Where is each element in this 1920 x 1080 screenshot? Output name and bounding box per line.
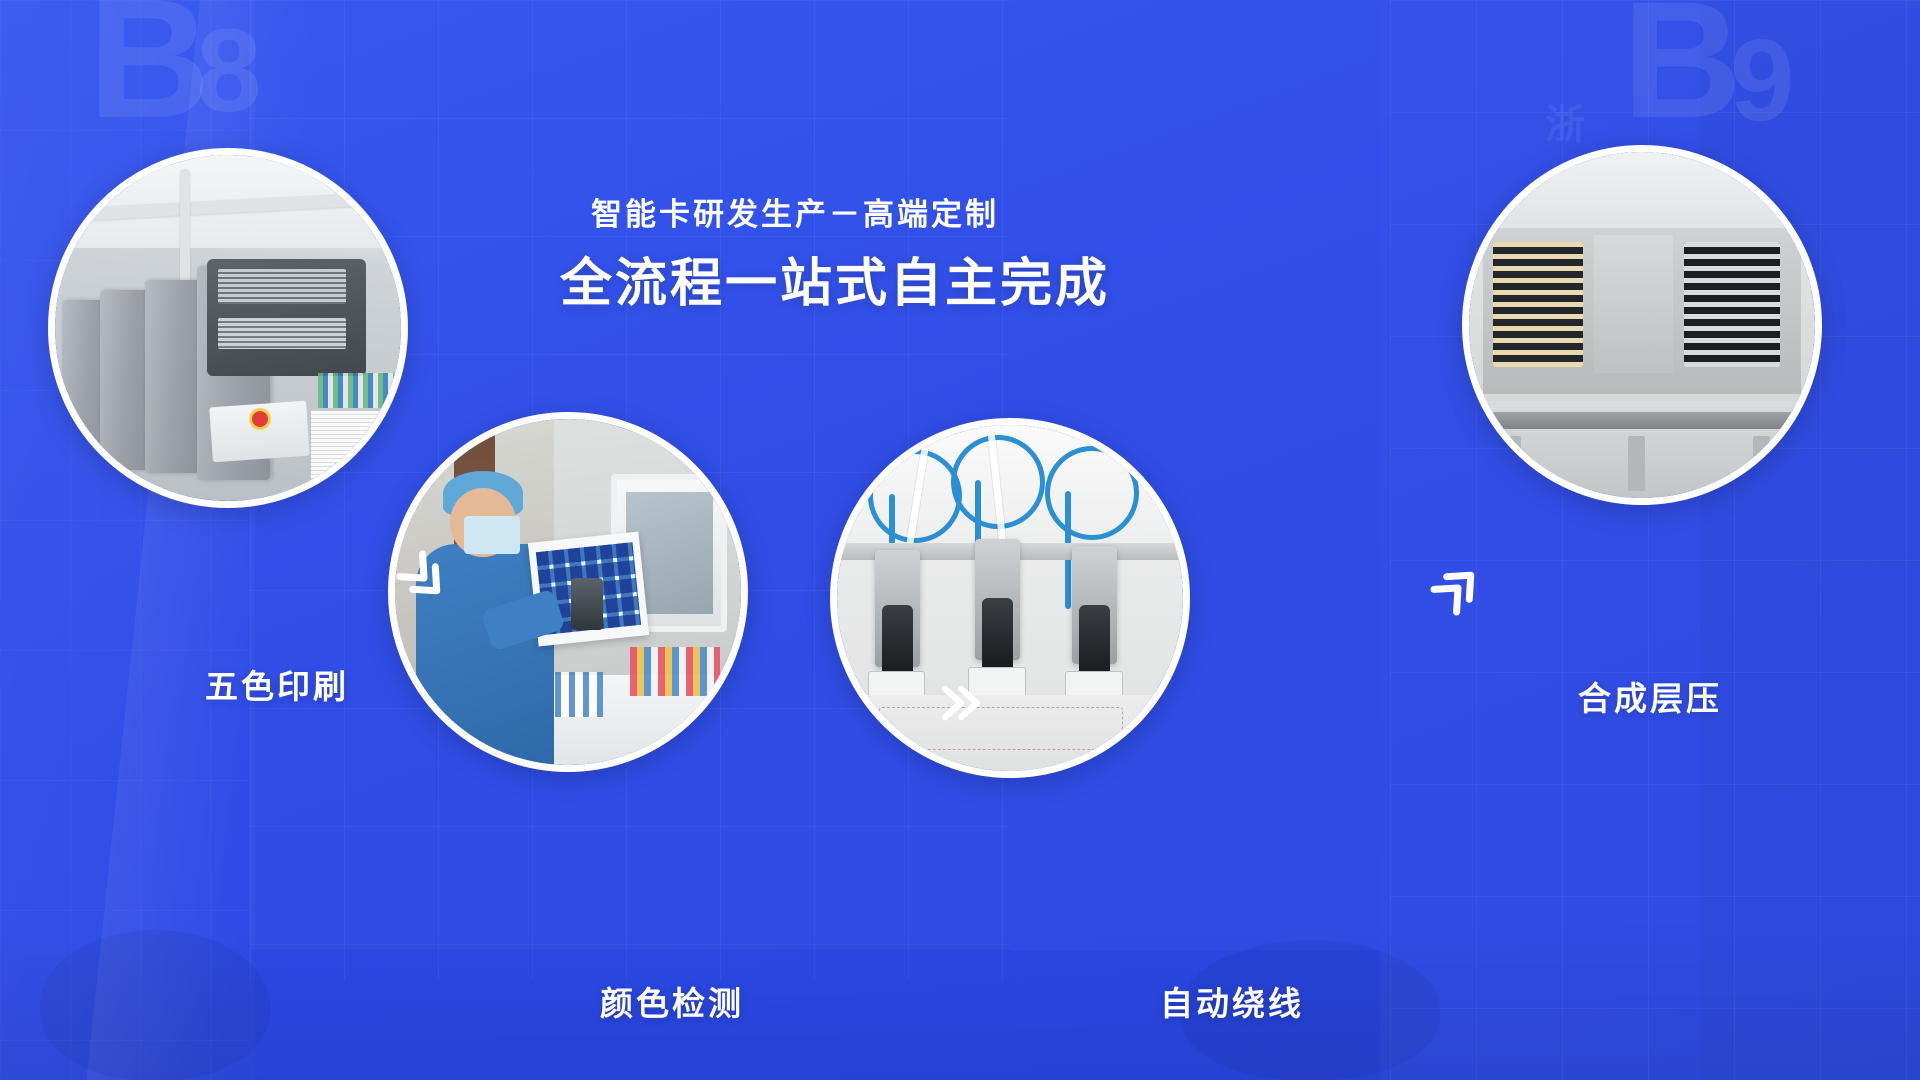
step-2-label: 颜色检测: [600, 977, 744, 1025]
watermark-left-number: 8: [196, 12, 258, 130]
background-tree-left: [40, 930, 270, 1080]
watermark-right-number: 9: [1730, 22, 1791, 138]
watermark-left-letter: B: [88, 0, 207, 144]
step-3-label: 自动绕线: [1160, 977, 1304, 1025]
step-1-circle[interactable]: [48, 148, 408, 508]
five-color-printing-press-photo: [55, 155, 401, 501]
step-1-label: 五色印刷: [205, 660, 349, 708]
arrow-2-chevron-right-icon: [938, 680, 984, 726]
banner-subtitle: 智能卡研发生产－高端定制: [560, 196, 1030, 233]
banner-title: 全流程一站式自主完成: [560, 253, 1030, 315]
step-3-circle[interactable]: [830, 418, 1190, 778]
background-ground: [0, 920, 1920, 1080]
headline-block: 智能卡研发生产－高端定制 全流程一站式自主完成: [560, 196, 1030, 316]
color-inspection-worker-photo: [395, 419, 741, 765]
automatic-coil-winding-machine-photo: [837, 425, 1183, 771]
lamination-press-photo: [1469, 152, 1815, 498]
watermark-right-small-text: 浙: [1545, 105, 1585, 145]
watermark-right-letter: B: [1622, 0, 1738, 144]
step-4-circle[interactable]: [1462, 145, 1822, 505]
step-4-label: 合成层压: [1578, 672, 1722, 720]
promo-banner: B 8 B 9 浙 智能卡研发生产－高端定制 全流程一站式自主完成 五色印刷: [0, 0, 1920, 1080]
